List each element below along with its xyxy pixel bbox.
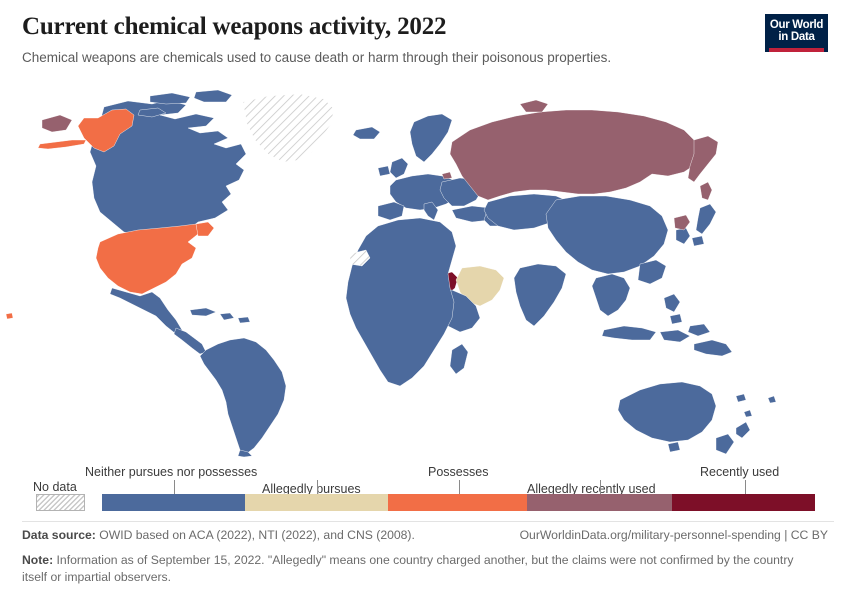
chart-header: Current chemical weapons activity, 2022 … — [22, 12, 828, 67]
country-southeast-asia[interactable] — [592, 274, 630, 316]
legend-label-recently-used: Recently used — [700, 465, 779, 479]
country-chukotka[interactable] — [42, 115, 72, 132]
legend-swatch-possesses[interactable] — [388, 494, 527, 511]
legend-swatch-recently-used[interactable] — [672, 494, 815, 511]
country-africa[interactable] — [346, 218, 456, 386]
country-canada-arctic-islands[interactable] — [138, 90, 232, 117]
country-iceland[interactable] — [353, 127, 380, 139]
legend-tick-allegedly-recently-used — [600, 480, 601, 495]
country-new-zealand[interactable] — [716, 422, 750, 454]
country-sakhalin[interactable] — [700, 182, 712, 200]
country-caribbean-islands[interactable] — [190, 308, 250, 323]
country-central-america[interactable] — [174, 328, 206, 354]
map-legend: No data Neither pursues nor possesses Al… — [0, 458, 850, 520]
country-pacific-islands[interactable] — [736, 394, 776, 417]
country-australia[interactable] — [618, 382, 716, 442]
footer-divider — [22, 521, 834, 522]
country-iberia[interactable] — [378, 202, 404, 220]
footer-note-row: Note: Information as of September 15, 20… — [22, 552, 812, 587]
owid-logo-line1: Our World — [769, 19, 824, 31]
world-map[interactable] — [0, 82, 850, 457]
country-greenland[interactable] — [243, 94, 334, 162]
country-papua-new-guinea[interactable] — [694, 340, 732, 356]
country-british-isles[interactable] — [378, 158, 408, 178]
country-india[interactable] — [514, 264, 566, 326]
footer-url[interactable]: OurWorldinData.org/military-personnel-sp… — [520, 527, 828, 545]
country-scandinavia[interactable] — [410, 114, 452, 162]
country-indonesia[interactable] — [602, 324, 710, 342]
legend-label-neither-pursues-nor-possesses: Neither pursues nor possesses — [85, 465, 257, 479]
legend-label-possesses: Possesses — [428, 465, 488, 479]
country-united-states[interactable] — [96, 224, 198, 294]
chart-footer: Data source: OWID based on ACA (2022), N… — [22, 527, 834, 587]
legend-swatch-allegedly-pursues[interactable] — [245, 494, 388, 511]
legend-label-no-data: No data — [33, 480, 77, 494]
country-japan[interactable] — [692, 204, 716, 246]
footer-note-text: Information as of September 15, 2022. "A… — [22, 553, 793, 585]
country-tasmania[interactable] — [668, 442, 680, 452]
footer-source-row: Data source: OWID based on ACA (2022), N… — [22, 527, 834, 545]
country-russia[interactable] — [450, 110, 700, 200]
legend-tick-possesses — [459, 480, 460, 495]
country-south-america[interactable] — [200, 338, 286, 454]
country-novaya-zemlya[interactable] — [520, 100, 548, 112]
page-title: Current chemical weapons activity, 2022 — [22, 12, 828, 42]
footer-note-label: Note: — [22, 553, 53, 567]
legend-tick-recently-used — [745, 480, 746, 495]
owid-logo-line2: in Data — [769, 31, 824, 43]
legend-swatch-allegedly-recently-used[interactable] — [527, 494, 672, 511]
chart-subtitle: Chemical weapons are chemicals used to c… — [22, 49, 828, 67]
country-china-southeast[interactable] — [638, 260, 666, 284]
legend-swatch-neither-pursues-nor-possesses[interactable] — [102, 494, 245, 511]
country-kaliningrad[interactable] — [442, 172, 452, 179]
country-aleutian-islands[interactable] — [38, 140, 86, 149]
footer-source-label: Data source: — [22, 528, 96, 542]
country-small-islands[interactable] — [6, 313, 13, 319]
legend-swatch-no-data[interactable] — [36, 494, 85, 511]
owid-logo[interactable]: Our World in Data — [765, 14, 828, 52]
country-us-northeast[interactable] — [196, 222, 214, 236]
country-madagascar[interactable] — [450, 344, 468, 374]
legend-tick-allegedly-pursues — [317, 480, 318, 495]
legend-tick-neither-pursues-nor-possesses — [174, 480, 175, 495]
footer-source-text: OWID based on ACA (2022), NTI (2022), an… — [96, 528, 415, 542]
country-philippines[interactable] — [664, 294, 682, 324]
country-mexico[interactable] — [110, 288, 182, 334]
owid-logo-bar — [769, 48, 824, 52]
country-north-korea[interactable] — [674, 215, 690, 230]
country-south-korea[interactable] — [676, 228, 690, 244]
